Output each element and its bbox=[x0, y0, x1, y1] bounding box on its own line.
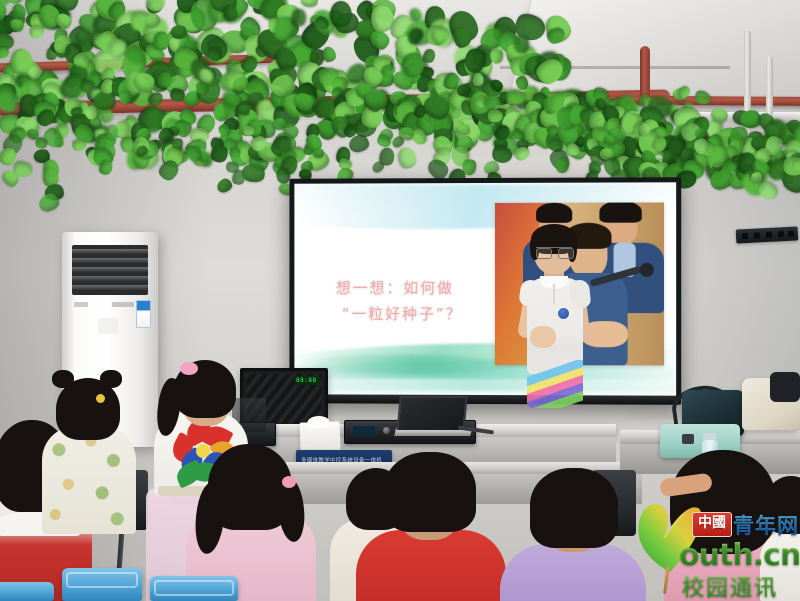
monitor-led-text: 88:88 bbox=[294, 376, 320, 385]
monitor-led-display: 88:88 bbox=[294, 376, 320, 385]
presenter-hands bbox=[530, 326, 556, 348]
classroom-photo: 想一想：如何做 “一粒好种子”？ bbox=[0, 0, 800, 601]
stool-left-seat bbox=[66, 572, 138, 588]
stool-left-edge[interactable] bbox=[0, 582, 54, 601]
laptop-base bbox=[394, 430, 472, 436]
watermark-cn-badge: 中國 bbox=[692, 512, 732, 537]
kid-left-floral-hair-clip bbox=[96, 394, 105, 403]
presenter-school-badge bbox=[558, 308, 569, 319]
photo-microphone-head-icon bbox=[640, 263, 654, 277]
stool-centre[interactable] bbox=[150, 576, 238, 601]
wall-conduit bbox=[744, 30, 751, 134]
kid-flower-hair-bow bbox=[180, 362, 198, 375]
photo-person-back-left-hair bbox=[536, 203, 572, 223]
wall-conduit-2 bbox=[766, 56, 773, 136]
kid-red-tee-hair bbox=[384, 452, 476, 532]
student-presenter bbox=[518, 228, 590, 408]
kid-lavender-hair bbox=[530, 468, 618, 548]
projected-slide: 想一想：如何做 “一粒好种子”？ bbox=[294, 182, 676, 395]
kid-lavender bbox=[500, 470, 646, 601]
screen-bottom-frame bbox=[294, 394, 676, 404]
watermark-subtitle: 校园通讯社 bbox=[682, 570, 800, 601]
kid-lavender-body bbox=[500, 544, 646, 601]
stool-left[interactable] bbox=[62, 568, 142, 601]
photo-person-back-right-hair bbox=[599, 202, 641, 222]
tissue-sheet bbox=[307, 416, 329, 429]
kid-red-tee-body bbox=[356, 530, 506, 601]
kid-pink-tee-hair-tie bbox=[282, 476, 296, 488]
ac-emblem bbox=[98, 318, 118, 334]
watermark: 中國 青年网 outh.cn 校园通讯社 bbox=[632, 500, 800, 601]
presenter-right-sleeve bbox=[569, 279, 592, 309]
duct-seam bbox=[500, 66, 731, 69]
laptop-screen bbox=[396, 396, 467, 434]
presenter-glasses-icon bbox=[536, 247, 572, 257]
presenter-placket bbox=[553, 284, 555, 304]
kid-left-floral-bun-left bbox=[52, 370, 74, 388]
kid-left-floral-bun-right bbox=[100, 370, 122, 388]
bag-tag bbox=[682, 434, 694, 444]
stool-centre-seat bbox=[154, 580, 234, 596]
ac-brand-logo bbox=[74, 302, 88, 307]
kid-left-floral bbox=[42, 372, 138, 532]
ac-model-badge bbox=[112, 302, 134, 307]
kid-red-tee bbox=[356, 456, 506, 601]
projection-screen[interactable]: 想一想：如何做 “一粒好种子”？ bbox=[289, 177, 681, 405]
ceiling-pipe-riser bbox=[640, 46, 650, 98]
watermark-domain: outh.cn bbox=[679, 538, 800, 573]
kid-left-floral-pattern bbox=[42, 426, 136, 534]
ac-energy-label bbox=[136, 300, 151, 328]
watermark-brand-cn: 青年网 bbox=[733, 510, 799, 540]
bag-cream-accent bbox=[770, 372, 800, 402]
ac-grille-icon bbox=[72, 245, 148, 295]
presenter-shirt-hem bbox=[527, 360, 583, 408]
